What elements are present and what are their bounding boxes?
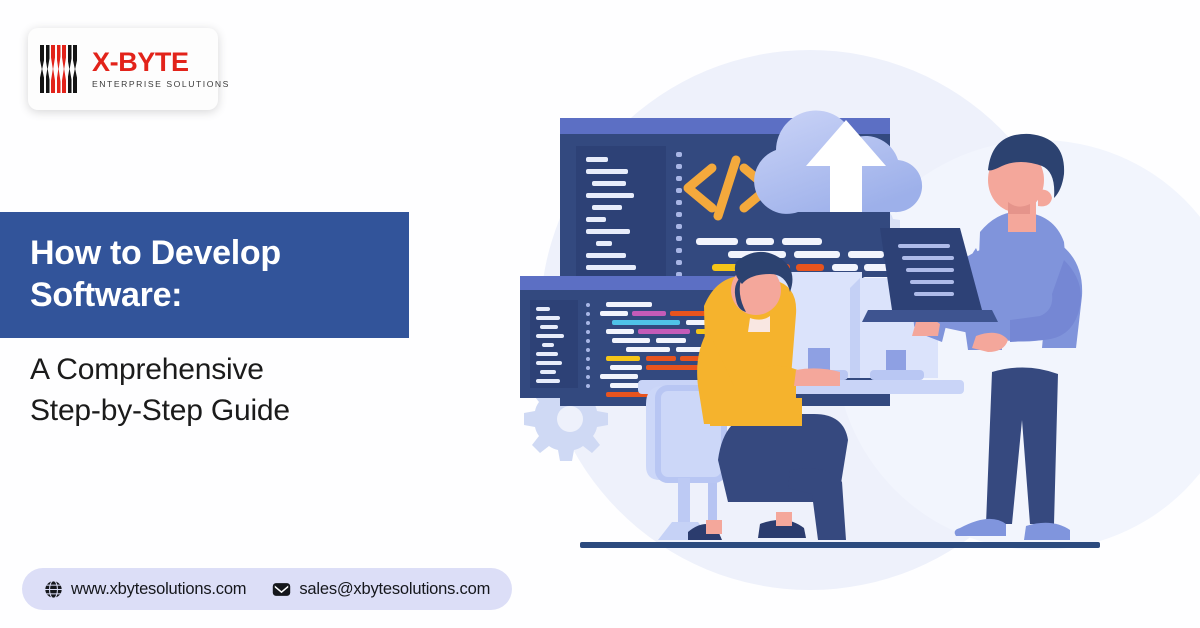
headline-line-1: How to Develop [30, 233, 409, 275]
globe-icon [44, 580, 63, 599]
headline-banner: How to Develop Software: [0, 212, 409, 338]
logo-brand-name: X-BYTE [92, 49, 230, 76]
logo-tagline: ENTERPRISE SOLUTIONS [92, 80, 230, 89]
contact-footer-bar: www.xbytesolutions.com sales@xbytesoluti… [22, 568, 512, 610]
brand-logo-card[interactable]: X-BYTE ENTERPRISE SOLUTIONS [28, 28, 218, 110]
subtitle-line-2: Step-by-Step Guide [30, 391, 450, 432]
email-address: sales@xbytesolutions.com [299, 580, 490, 599]
headline-line-2: Software: [30, 275, 409, 317]
website-url: www.xbytesolutions.com [71, 580, 246, 599]
x-byte-logo-icon [40, 45, 82, 93]
envelope-icon [272, 580, 291, 599]
logo-wordmark: X-BYTE ENTERPRISE SOLUTIONS [92, 49, 230, 89]
website-contact[interactable]: www.xbytesolutions.com [44, 580, 246, 599]
banner-canvas: X-BYTE ENTERPRISE SOLUTIONS How to Devel… [0, 0, 1200, 628]
ground-line [580, 542, 1100, 548]
email-contact[interactable]: sales@xbytesolutions.com [272, 580, 490, 599]
subtitle-line-1: A Comprehensive [30, 350, 450, 391]
software-development-illustration [460, 0, 1200, 628]
subtitle-block: A Comprehensive Step-by-Step Guide [30, 350, 450, 432]
